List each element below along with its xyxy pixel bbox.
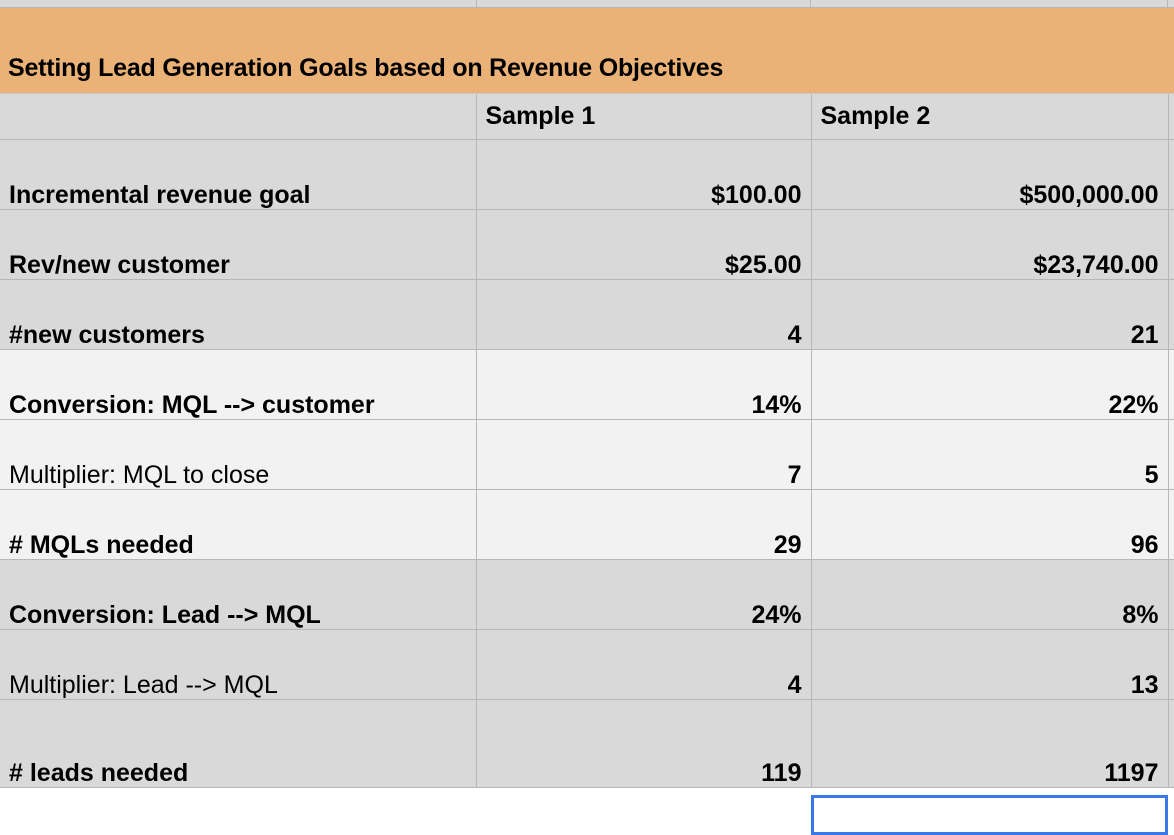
edge-cell [1168, 139, 1174, 209]
row-label-new-customers[interactable]: #new customers [0, 279, 476, 349]
cell-conversion-lead-mql-sample-1[interactable]: 24% [476, 559, 811, 629]
cell-multiplier-mql-to-close-sample-1[interactable]: 7 [476, 419, 811, 489]
cell-incremental-revenue-goal-sample-1[interactable]: $100.00 [476, 139, 811, 209]
spreadsheet-canvas: Setting Lead Generation Goals based on R… [0, 0, 1174, 808]
table-row: Incremental revenue goal $100.00 $500,00… [0, 139, 1174, 209]
edge-cell [1168, 349, 1174, 419]
cell-mqls-needed-sample-2[interactable]: 96 [811, 489, 1168, 559]
cell-new-customers-sample-2[interactable]: 21 [811, 279, 1168, 349]
row-label-conversion-mql-customer[interactable]: Conversion: MQL --> customer [0, 349, 476, 419]
table-row: Conversion: Lead --> MQL 24% 8% [0, 559, 1174, 629]
cell-leads-needed-sample-2[interactable]: 1197 [811, 699, 1168, 787]
cell-multiplier-lead-mql-sample-2[interactable]: 13 [811, 629, 1168, 699]
active-cell-selection-outline[interactable] [811, 795, 1168, 835]
page-title: Setting Lead Generation Goals based on R… [0, 56, 723, 93]
table-row: Multiplier: MQL to close 7 5 [0, 419, 1174, 489]
cell-rev-new-customer-sample-2[interactable]: $23,740.00 [811, 209, 1168, 279]
cell-leads-needed-sample-1[interactable]: 119 [476, 699, 811, 787]
edge-cell [1168, 209, 1174, 279]
cell-rev-new-customer-sample-1[interactable]: $25.00 [476, 209, 811, 279]
cell-mqls-needed-sample-1[interactable]: 29 [476, 489, 811, 559]
cell-new-customers-sample-1[interactable]: 4 [476, 279, 811, 349]
header-cell-blank[interactable] [0, 94, 476, 139]
cell-incremental-revenue-goal-sample-2[interactable]: $500,000.00 [811, 139, 1168, 209]
cell-multiplier-mql-to-close-sample-2[interactable]: 5 [811, 419, 1168, 489]
cell-conversion-lead-mql-sample-2[interactable]: 8% [811, 559, 1168, 629]
edge-cell [1168, 279, 1174, 349]
cell-conversion-mql-customer-sample-2[interactable]: 22% [811, 349, 1168, 419]
row-label-multiplier-lead-mql[interactable]: Multiplier: Lead --> MQL [0, 629, 476, 699]
cell-multiplier-lead-mql-sample-1[interactable]: 4 [476, 629, 811, 699]
row-label-incremental-revenue-goal[interactable]: Incremental revenue goal [0, 139, 476, 209]
data-table: Sample 1 Sample 2 Incremental revenue go… [0, 94, 1174, 788]
cell-conversion-mql-customer-sample-1[interactable]: 14% [476, 349, 811, 419]
title-banner-row[interactable]: Setting Lead Generation Goals based on R… [0, 8, 1174, 94]
column-header-sample-2[interactable]: Sample 2 [811, 94, 1168, 139]
edge-cell [1168, 699, 1174, 787]
edge-cell [1168, 419, 1174, 489]
edge-cell [1168, 629, 1174, 699]
row-label-mqls-needed[interactable]: # MQLs needed [0, 489, 476, 559]
table-row: #new customers 4 21 [0, 279, 1174, 349]
table-row: Multiplier: Lead --> MQL 4 13 [0, 629, 1174, 699]
edge-cell [1168, 559, 1174, 629]
table-row: # MQLs needed 29 96 [0, 489, 1174, 559]
column-header-sample-1[interactable]: Sample 1 [476, 94, 811, 139]
scrolled-row-sliver [0, 0, 1174, 8]
edge-cell [1168, 489, 1174, 559]
edge-cell [1168, 94, 1174, 139]
table-row: Rev/new customer $25.00 $23,740.00 [0, 209, 1174, 279]
row-label-conversion-lead-mql[interactable]: Conversion: Lead --> MQL [0, 559, 476, 629]
row-label-multiplier-mql-to-close[interactable]: Multiplier: MQL to close [0, 419, 476, 489]
table-row: # leads needed 119 1197 [0, 699, 1174, 787]
row-label-leads-needed[interactable]: # leads needed [0, 699, 476, 787]
row-label-rev-new-customer[interactable]: Rev/new customer [0, 209, 476, 279]
table-row: Conversion: MQL --> customer 14% 22% [0, 349, 1174, 419]
table-header-row: Sample 1 Sample 2 [0, 94, 1174, 139]
